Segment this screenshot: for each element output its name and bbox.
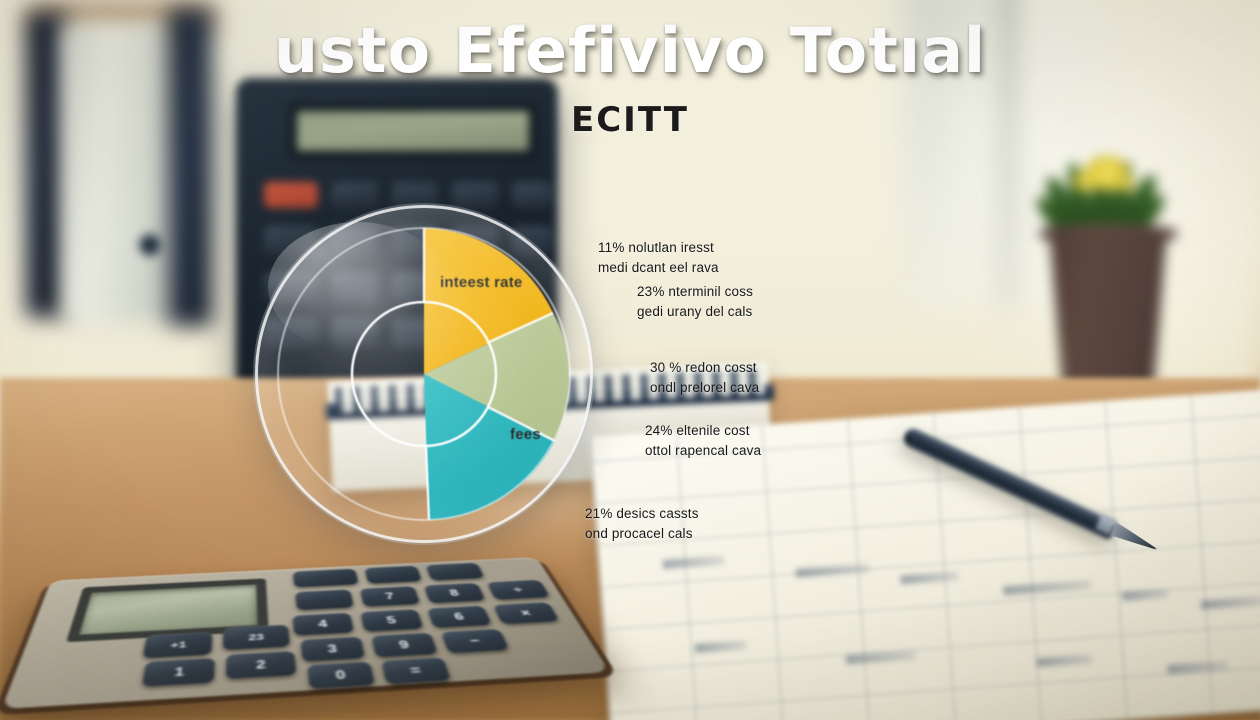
calculator-key-4: 4	[292, 613, 354, 636]
calculator-key-clear	[264, 182, 318, 208]
binder-ring-hole-icon	[139, 234, 161, 256]
calculator-key	[392, 182, 438, 208]
calculator-key	[364, 566, 422, 584]
calculator-key-7: 7	[360, 586, 420, 607]
calculator-key-6: 6	[427, 606, 492, 628]
legend-item: 21% desics cassts ond procacel cals	[585, 504, 699, 543]
calculator-key	[452, 182, 498, 208]
legend-item: 24% eltenile cost ottol rapencal cava	[645, 421, 761, 460]
calculator-key-23: 23	[223, 625, 290, 650]
legend-line-2: ottol rapencal cava	[645, 441, 761, 461]
poster-scene: 7 8 ÷ 4 5 6 × +1 23 3 9 − 1 2 0 =	[0, 0, 1260, 720]
legend-line-1: 23% nterminil coss	[637, 282, 753, 302]
page-subtitle: ECITT	[0, 100, 1260, 140]
calculator-key-minus: −	[441, 629, 509, 653]
calculator-key-onoff	[293, 569, 359, 588]
plant-flower	[1113, 174, 1135, 192]
calculator-key	[512, 182, 552, 208]
calculator-key-3: 3	[300, 636, 365, 661]
legend-line-1: 30 % redon cosst	[650, 358, 759, 378]
calculator-key-2: 2	[226, 651, 297, 679]
calculator-key-9: 9	[371, 633, 438, 658]
legend-line-2: medi dcant eel rava	[598, 258, 719, 278]
legend-line-1: 21% desics cassts	[585, 504, 699, 524]
calculator-key-equals: =	[381, 657, 451, 684]
magnifier-lens	[258, 208, 590, 540]
potted-plant	[1015, 130, 1205, 400]
calculator-key-divide: ÷	[487, 580, 550, 600]
legend-line-2: ond procacel cals	[585, 524, 699, 544]
calculator-key	[295, 589, 354, 610]
calculator-key-plus: +1	[143, 632, 213, 658]
plant-pot	[1041, 228, 1175, 388]
calculator-key	[426, 563, 485, 581]
legend-line-2: ondl prelorel cava	[650, 378, 759, 398]
calculator-key	[332, 182, 378, 208]
legend-item: 23% nterminil coss gedi urany del cals	[637, 282, 753, 321]
legend-item: 11% nolutlan iresst medi dcant eel rava	[598, 238, 719, 277]
calculator-key-multiply: ×	[493, 602, 559, 624]
calculator-key-1: 1	[142, 658, 215, 687]
calculator-key-8: 8	[424, 583, 486, 603]
legend-item: 30 % redon cosst ondl prelorel cava	[650, 358, 759, 397]
calculator-key-5: 5	[360, 609, 423, 632]
page-title: usto Efefivivo Totıal	[0, 14, 1260, 87]
calculator-key-0: 0	[307, 661, 375, 688]
legend-line-1: 11% nolutlan iresst	[598, 238, 719, 258]
legend-line-2: gedi urany del cals	[637, 302, 753, 322]
legend-line-1: 24% eltenile cost	[645, 421, 761, 441]
